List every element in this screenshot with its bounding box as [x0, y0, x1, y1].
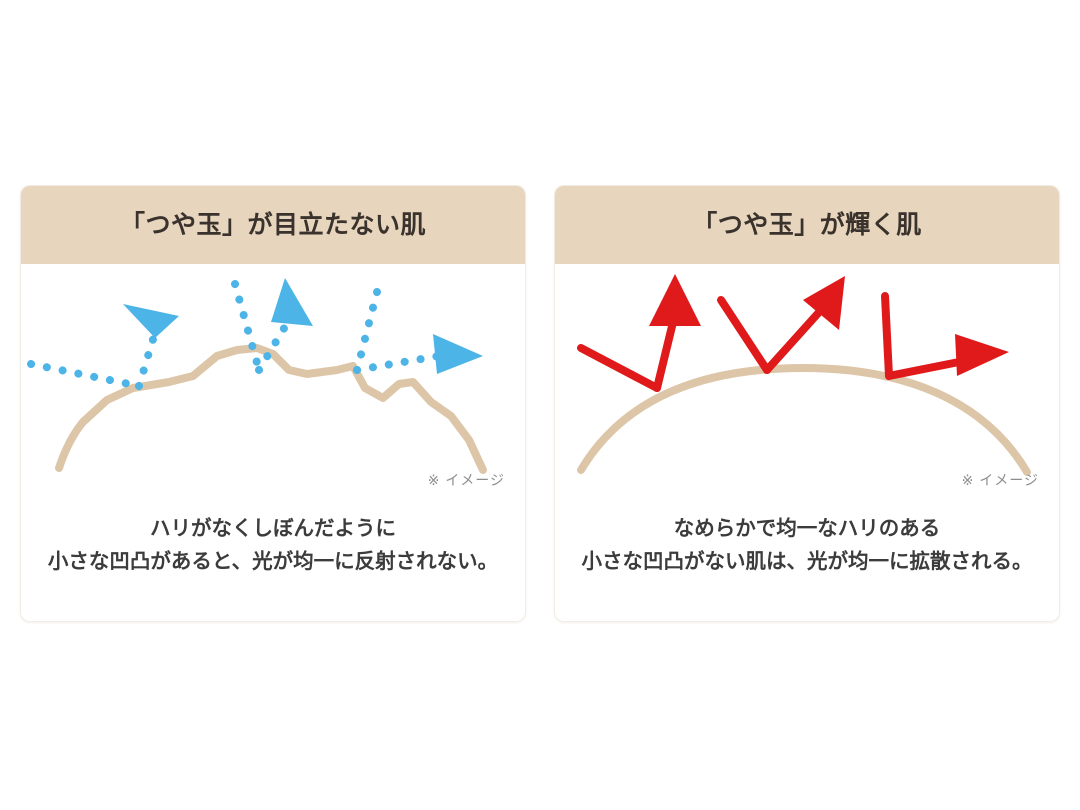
arrowhead-icon-3 — [433, 334, 483, 374]
skin-surface-line-bumpy — [59, 348, 483, 470]
card-body-glowing-skin: ※ イメージ なめらかで均一なハリのある 小さな凹凸がない肌は、光が均一に拡散さ… — [555, 264, 1059, 621]
caption-line-2: 小さな凹凸がない肌は、光が均一に拡散される。 — [569, 545, 1045, 578]
card-glowing-skin: 「つや玉」が輝く肌 — [554, 185, 1060, 622]
ray-solid-outgoing-2 — [767, 310, 821, 370]
ray-dotted-outgoing-3 — [357, 356, 439, 370]
diagram-glowing-skin: ※ イメージ — [555, 264, 1059, 496]
arrowhead-icon-1 — [123, 304, 179, 338]
card-title-glowing-skin: 「つや玉」が輝く肌 — [692, 213, 922, 238]
ray-solid-incoming-2 — [721, 300, 767, 370]
ray-dotted-incoming-1 — [31, 364, 139, 386]
ray-solid-incoming-3 — [885, 296, 889, 376]
arrowhead-icon-2 — [271, 278, 313, 326]
card-header-dull-skin: 「つや玉」が目立たない肌 — [21, 186, 525, 264]
caption-line-1: ハリがなくしぼんだように — [35, 512, 511, 545]
comparison-cards-row: 「つや玉」が目立たない肌 — [20, 185, 1060, 622]
card-header-glowing-skin: 「つや玉」が輝く肌 — [555, 186, 1059, 264]
figure-root: 「つや玉」が目立たない肌 — [0, 0, 1080, 810]
caption-line-2: 小さな凹凸があると、光が均一に反射されない。 — [35, 545, 511, 578]
ray-solid-incoming-1 — [581, 348, 657, 388]
diagram-svg-uneven-skin — [21, 264, 525, 496]
card-dull-skin: 「つや玉」が目立たない肌 — [20, 185, 526, 622]
diagram-dull-skin: ※ イメージ — [21, 264, 525, 496]
card-title-dull-skin: 「つや玉」が目立たない肌 — [120, 213, 426, 238]
image-note-glowing-skin: ※ イメージ — [962, 470, 1039, 490]
card-caption-dull-skin: ハリがなくしぼんだように 小さな凹凸があると、光が均一に反射されない。 — [21, 496, 525, 621]
ray-dotted-incoming-3 — [357, 292, 377, 370]
card-caption-glowing-skin: なめらかで均一なハリのある 小さな凹凸がない肌は、光が均一に拡散される。 — [555, 496, 1059, 621]
diagram-svg-smooth-skin — [555, 264, 1059, 496]
card-body-dull-skin: ※ イメージ ハリがなくしぼんだように 小さな凹凸があると、光が均一に反射されな… — [21, 264, 525, 621]
arrowhead-icon-3 — [955, 334, 1009, 376]
image-note-dull-skin: ※ イメージ — [428, 470, 505, 490]
caption-line-1: なめらかで均一なハリのある — [569, 512, 1045, 545]
arrowhead-icon-1 — [649, 274, 701, 326]
ray-dotted-incoming-2 — [235, 284, 259, 370]
